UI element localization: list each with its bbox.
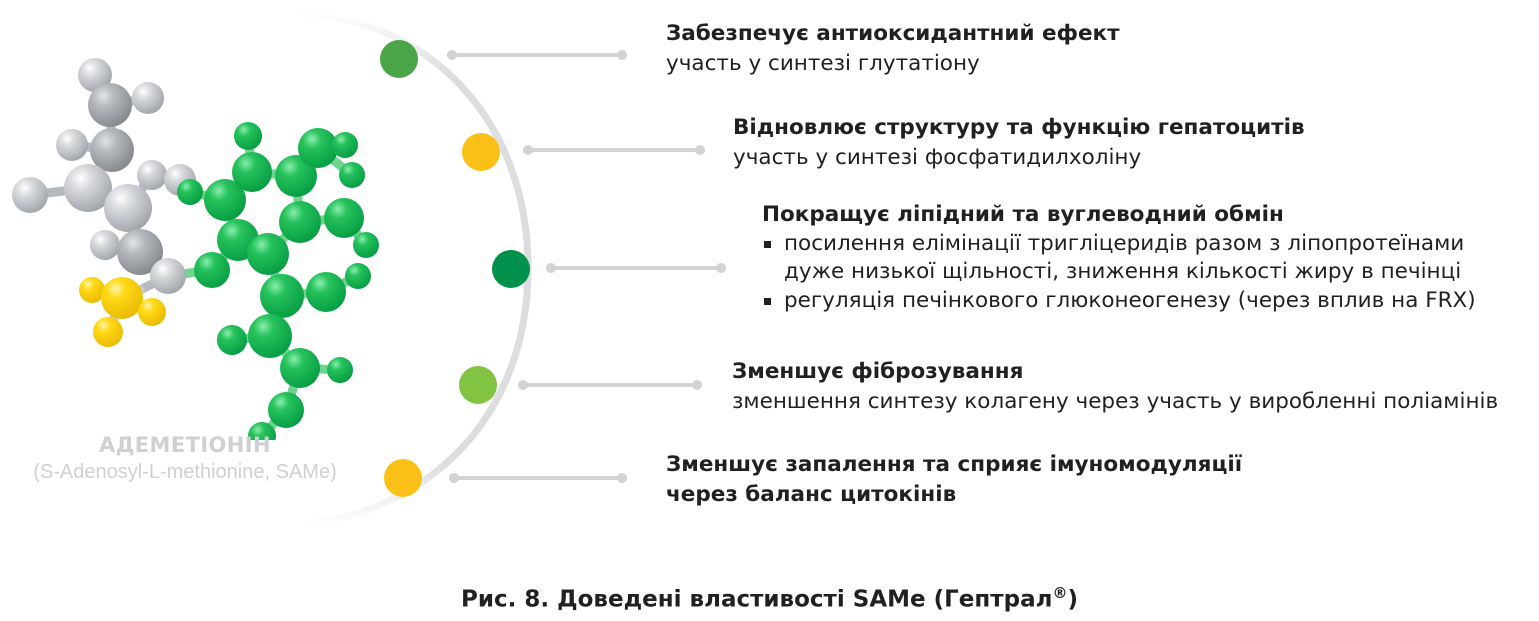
molecule-label: АДЕМЕТІОНІН (S-Adenosyl-L-methionine, SA… [0, 432, 370, 485]
figure-container: АДЕМЕТІОНІН (S-Adenosyl-L-methionine, SA… [0, 0, 1539, 621]
block-heading: Забезпечує антиоксидантний ефект [666, 19, 1120, 49]
registered-mark: ® [1052, 584, 1067, 602]
connector-line [518, 383, 702, 387]
molecule-atoms-gray [12, 58, 196, 294]
molecule-name: АДЕМЕТІОНІН [0, 432, 370, 458]
connector-cap-left [546, 263, 556, 273]
node-hepatocytes[interactable] [462, 133, 500, 171]
bullet-square-icon [764, 241, 771, 248]
bullet-item: регуляція печінкового глюконеогенезу (че… [762, 287, 1476, 316]
connector-inflammation [449, 473, 627, 483]
connector-cap-left [523, 145, 533, 155]
molecule-illustration [0, 40, 420, 440]
text-block-metabolism: Покращує ліпідний та вуглеводний обмін п… [762, 200, 1476, 316]
text-block-antioxidant: Забезпечує антиоксидантний ефект участь … [666, 19, 1120, 78]
connector-cap-right [716, 263, 726, 273]
connector-cap-right [617, 50, 627, 60]
bullet-square-icon [764, 298, 771, 305]
molecule-atoms-green [177, 122, 379, 440]
connector-cap-right [692, 380, 702, 390]
connector-line [449, 476, 627, 480]
block-heading: Відновлює структуру та функцію гепатоцит… [733, 113, 1305, 143]
connector-cap-left [449, 473, 459, 483]
connector-cap-left [518, 380, 528, 390]
bullet-line-1: посилення елімінації тригліцеридів разом… [784, 231, 1464, 256]
block-subtext: участь у синтезі глутатіону [666, 49, 1120, 79]
block-bullet-list: посилення елімінації тригліцеридів разом… [762, 230, 1476, 316]
bullet-line-1: регуляція печінкового глюконеогенезу (че… [784, 288, 1476, 313]
connector-cap-right [617, 473, 627, 483]
connector-cap-left [447, 50, 457, 60]
block-heading: Зменшує запалення та сприяє імуномодуляц… [666, 450, 1242, 480]
node-metabolism[interactable] [492, 250, 530, 288]
block-heading: Зменшує фіброзування [732, 357, 1498, 387]
molecule-svg [0, 40, 420, 440]
node-inflammation[interactable] [384, 459, 422, 497]
block-subtext: участь у синтезі фосфатидилхоліну [733, 143, 1305, 173]
connector-line [523, 148, 705, 152]
text-block-hepatocytes: Відновлює структуру та функцію гепатоцит… [733, 113, 1305, 172]
figure-caption: Рис. 8. Доведені властивості SAMe (Гептр… [0, 584, 1539, 613]
node-fibrosis[interactable] [459, 366, 497, 404]
block-heading: Покращує ліпідний та вуглеводний обмін [762, 200, 1476, 230]
bullet-item: посилення елімінації тригліцеридів разом… [762, 230, 1476, 288]
text-block-fibrosis: Зменшує фіброзування зменшення синтезу к… [732, 357, 1498, 416]
connector-line [546, 266, 726, 270]
connector-line [447, 53, 627, 57]
node-antioxidant[interactable] [380, 40, 418, 78]
block-subtext: зменшення синтезу колагену через участь … [732, 387, 1498, 417]
molecule-subtitle: (S-Adenosyl-L-methionine, SAMe) [0, 460, 370, 485]
connector-hepatocytes [523, 145, 705, 155]
block-subtext: через баланс цитокінів [666, 480, 1242, 510]
connector-cap-right [695, 145, 705, 155]
text-block-inflammation: Зменшує запалення та сприяє імуномодуляц… [666, 450, 1242, 509]
bullet-line-2: дуже низької щільності, зниження кількос… [784, 258, 1476, 287]
figure-caption-text: Рис. 8. Доведені властивості SAMe (Гептр… [461, 587, 1052, 613]
connector-fibrosis [518, 380, 702, 390]
connector-antioxidant [447, 50, 627, 60]
connector-metabolism [546, 263, 726, 273]
figure-caption-tail: ) [1067, 587, 1078, 613]
